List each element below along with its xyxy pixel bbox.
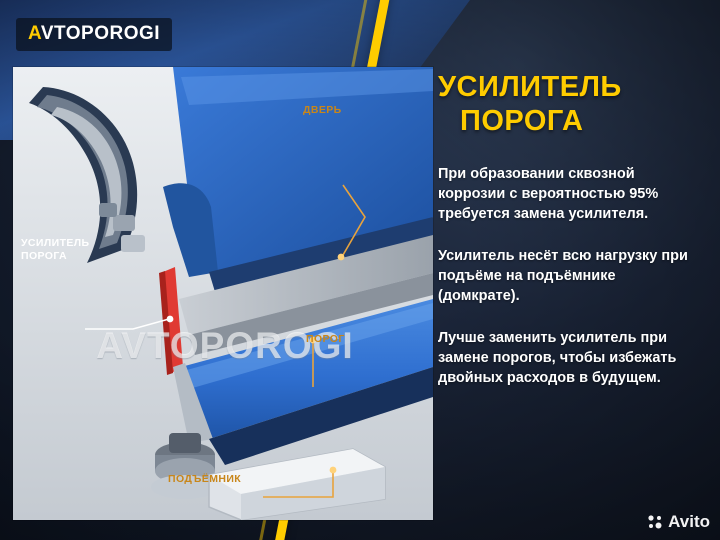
avito-watermark: Avito xyxy=(647,512,710,532)
brand-logo: AVTOPOROGI xyxy=(16,18,172,51)
headline-line2: ПОРОГА xyxy=(460,104,700,138)
lift-pad-stem xyxy=(169,433,201,453)
text-column: УСИЛИТЕЛЬ ПОРОГА При образовании сквозно… xyxy=(438,70,700,388)
promo-image: AVTOPOROGI xyxy=(0,0,720,540)
hinge-block-2 xyxy=(121,235,145,252)
hinge-block-3 xyxy=(99,203,117,217)
avito-label: Avito xyxy=(668,512,710,532)
sill-diagram xyxy=(13,67,433,520)
brand-logo-text: AVTOPOROGI xyxy=(28,23,160,45)
hinge-block-1 xyxy=(113,215,135,231)
headline: УСИЛИТЕЛЬ ПОРОГА xyxy=(438,70,700,138)
brand-logo-accent: A xyxy=(28,23,41,44)
illustration-panel: AVTOPOROGI ДВЕРЬ УСИЛИТЕЛЬ ПОРОГА ПОРОГ … xyxy=(13,67,433,520)
paragraph-3: Лучше заменить усилитель при замене поро… xyxy=(438,328,700,388)
callout-lift: ПОДЪЁМНИК xyxy=(168,473,241,485)
paragraph-1: При образовании сквозной коррозии с веро… xyxy=(438,164,700,224)
callout-reinforcement-line1: УСИЛИТЕЛЬ xyxy=(21,237,90,249)
leader-lift-dot xyxy=(330,467,337,474)
headline-line1: УСИЛИТЕЛЬ xyxy=(438,71,622,103)
callout-reinforcement-line2: ПОРОГА xyxy=(21,250,67,262)
callout-door: ДВЕРЬ xyxy=(303,104,342,116)
paragraph-2: Усилитель несёт всю нагрузку при подъёме… xyxy=(438,246,700,306)
leader-door-dot xyxy=(338,254,345,261)
leader-reinforcement-dot xyxy=(167,316,174,323)
callout-sill: ПОРОГ xyxy=(306,333,345,345)
brand-logo-rest: VTOPOROGI xyxy=(41,23,160,44)
avito-dots-icon xyxy=(647,514,663,530)
